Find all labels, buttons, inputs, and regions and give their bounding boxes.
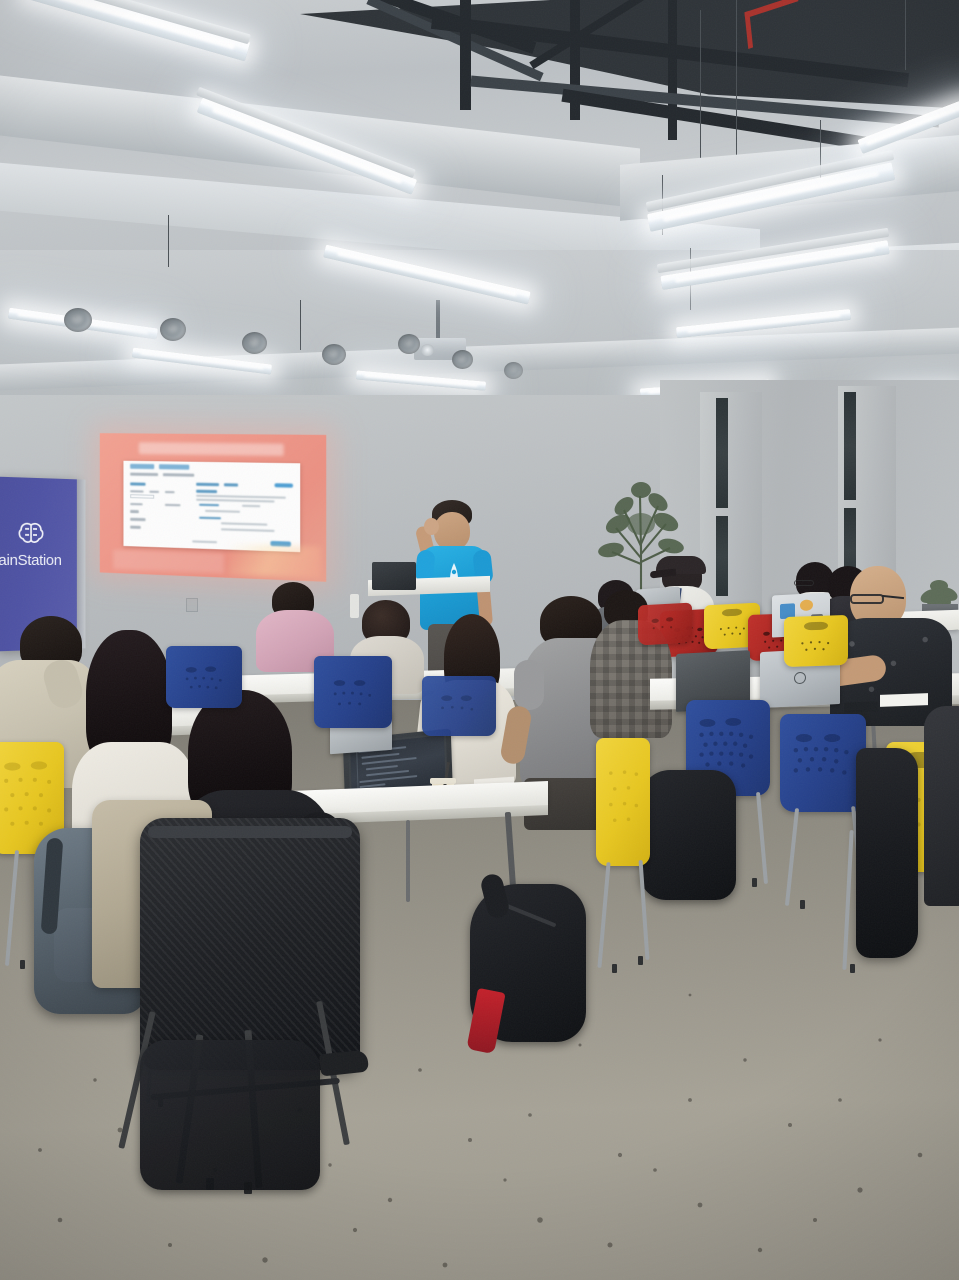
downlight-icon-6 (452, 350, 473, 369)
downlight-icon-3 (242, 332, 267, 354)
slide-breadcrumb-2 (163, 473, 194, 477)
light-wire-1 (168, 215, 169, 267)
slide-field-label-4 (130, 503, 142, 506)
chair-blue-mid-1[interactable] (166, 646, 242, 708)
slide-field-label-5 (130, 510, 139, 513)
slide-body-text-4 (221, 528, 275, 532)
draped-jacket (856, 748, 918, 958)
slot-window-1 (716, 398, 728, 508)
slot-window-3 (844, 392, 856, 500)
slide-panel-heading (196, 483, 219, 487)
downlight-icon-4 (322, 344, 346, 365)
chair-blue-mid-3[interactable] (422, 676, 496, 736)
table-leg-front-3 (406, 820, 410, 902)
slide-tab-2 (159, 465, 188, 470)
banner-stand-edge (77, 479, 86, 648)
attendee-far-right (924, 706, 959, 906)
slot-window-2 (716, 516, 728, 596)
slide-col-header (242, 505, 260, 508)
light-wire-2 (300, 300, 301, 350)
glasses-icon-1 (794, 580, 814, 586)
slide-body-text-3 (221, 522, 268, 526)
projector-lens-icon (421, 344, 434, 356)
ceiling-cable-3 (905, 0, 906, 70)
slide-footer-block (113, 549, 224, 573)
bottle-icon (350, 594, 359, 618)
banner-brand-text: BrainStation (0, 552, 75, 569)
slide-app-window (124, 461, 301, 553)
paper-right-table (880, 693, 928, 707)
chair-yellow-right-1[interactable] (784, 615, 848, 667)
presenter-hand-raised (424, 518, 439, 535)
attendee-gray-tshirt-sleeve (514, 660, 544, 710)
ceiling-cable-1 (700, 10, 701, 160)
chair-leg-tip-9 (612, 964, 617, 973)
slide-field-label-1 (130, 490, 144, 493)
slide-field-label-3 (165, 491, 175, 494)
downlight-icon-5 (398, 334, 420, 354)
chair-leg-tip-10 (638, 956, 643, 965)
slide-footer-text (192, 541, 217, 544)
slide-field-value-1 (165, 504, 181, 507)
slide-title-text (139, 442, 284, 456)
presenter-head (434, 512, 470, 550)
slide-panel-heading-2 (224, 483, 238, 487)
brain-icon (16, 520, 46, 546)
glasses-icon-2 (850, 594, 884, 604)
slide-input-1 (130, 494, 154, 499)
slide-field-label-6 (130, 518, 145, 521)
slide-field-label-7 (130, 526, 140, 529)
ceiling (0, 0, 959, 430)
chair-leg-tip-5 (20, 960, 25, 969)
chair-yellow-mid-right[interactable] (596, 738, 650, 866)
slide-body-text-2 (196, 498, 275, 502)
chair-leg-tip-2 (752, 878, 757, 887)
chair-black-mesh-frame (148, 826, 352, 838)
slide-tab-1 (130, 464, 154, 469)
wall-outlet (186, 598, 198, 612)
slide-breadcrumb (130, 473, 157, 476)
truss-beam-vertical-1 (460, 0, 471, 110)
downlight-icon-2 (160, 318, 186, 341)
chair-blue-right-2[interactable] (780, 714, 866, 812)
slide-field-label-2 (149, 490, 159, 493)
downlight-icon-1 (64, 308, 92, 332)
ceiling-cable-2 (736, 0, 737, 175)
slide-primary-button (274, 483, 292, 488)
slide-subsection-2 (199, 517, 220, 520)
dell-logo-icon (794, 672, 806, 685)
projector-mount-pole (436, 300, 440, 342)
chair-red-mid[interactable] (638, 603, 692, 646)
chair-blue-mid-2[interactable] (314, 656, 392, 728)
backpack-dark-center (140, 1040, 320, 1190)
phone-right-table (844, 701, 878, 712)
monitor-back (372, 562, 416, 590)
slide-form-heading (130, 482, 145, 486)
downlight-icon-7 (504, 362, 523, 379)
projected-slide (100, 433, 326, 582)
classroom-photograph: BrainStation (0, 0, 959, 1280)
slide-row-1 (205, 510, 241, 513)
backpack-dark-right (640, 770, 736, 900)
chair-leg-tip-4 (850, 964, 855, 973)
coffee-lid-icon (430, 778, 456, 784)
slide-lens-glint (228, 543, 321, 578)
slide-section-title (196, 489, 217, 492)
slide-subsection-1 (199, 503, 218, 506)
chair-leg-tip-3 (800, 900, 805, 909)
